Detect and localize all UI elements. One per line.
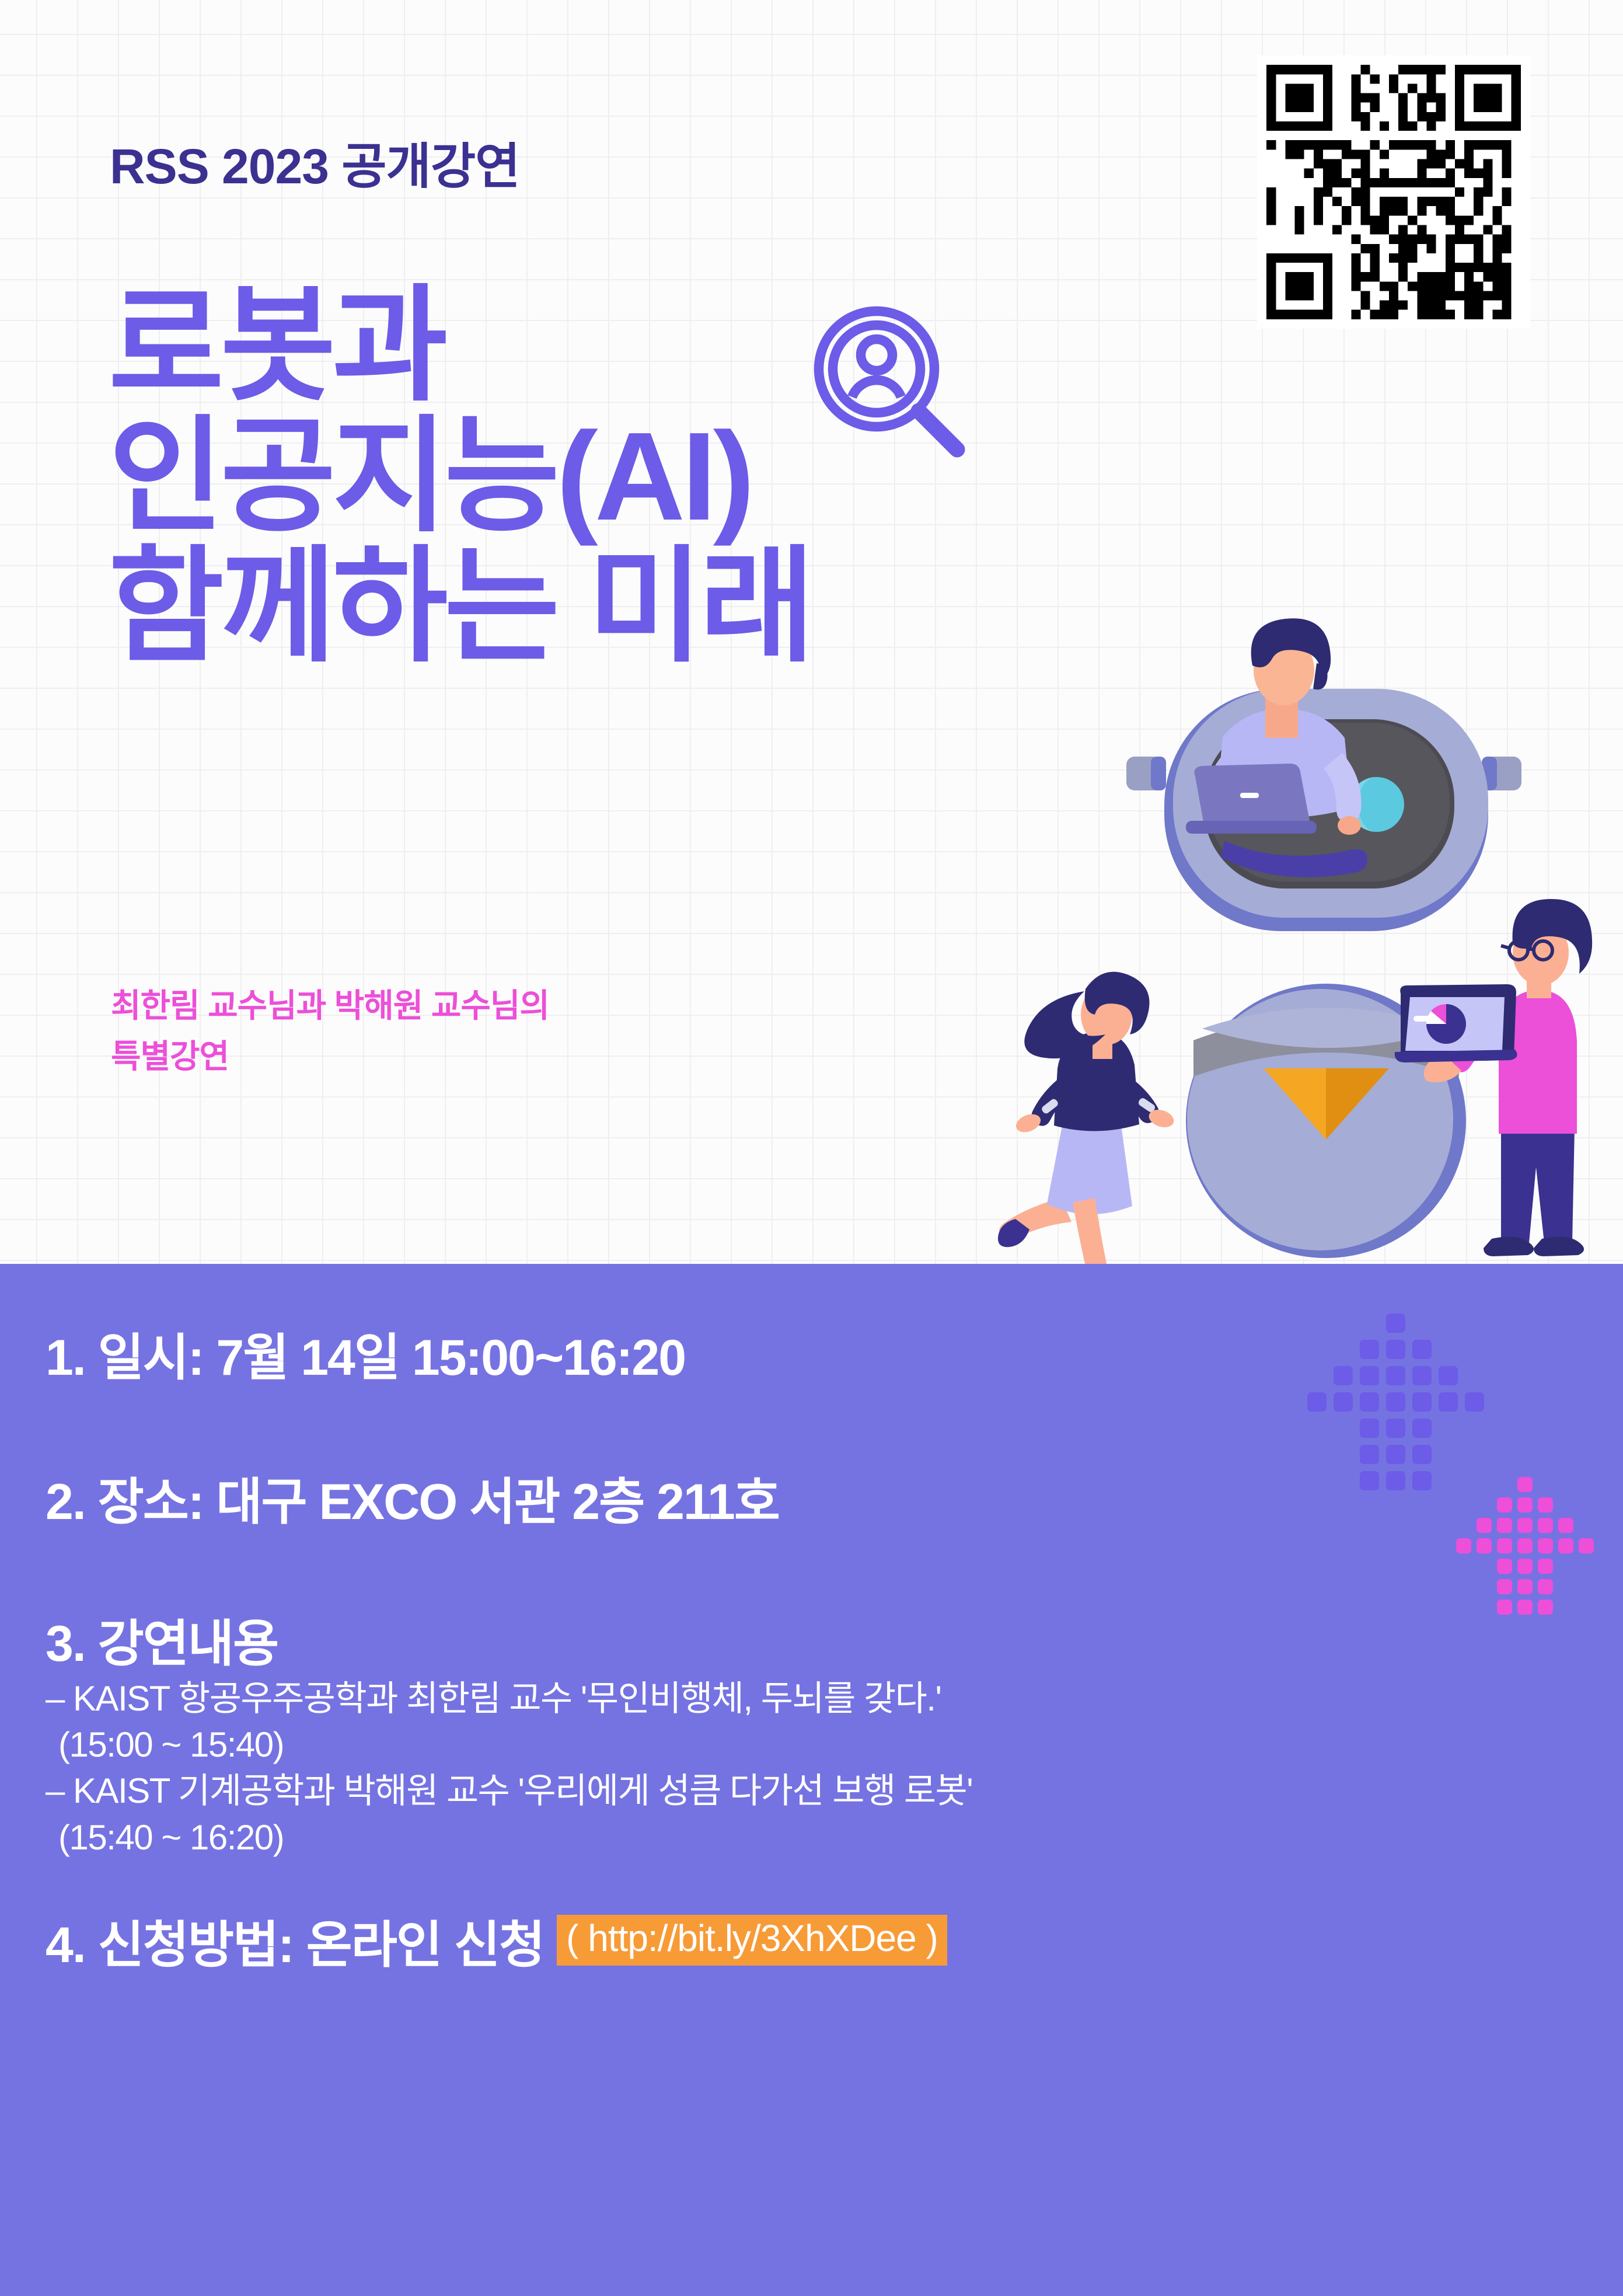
hero-line-2: 인공지능(AI) (109, 411, 1159, 542)
pixel-cross-pink (1456, 1477, 1602, 1623)
pixel-cell (1517, 1579, 1533, 1594)
pixel-cell (1497, 1518, 1512, 1533)
pixel-cell (1465, 1392, 1484, 1412)
pixel-cell (1517, 1538, 1533, 1553)
pixel-cell (1497, 1559, 1512, 1574)
robot-illustration (992, 607, 1623, 1264)
pixel-cell (1517, 1559, 1533, 1574)
pixel-cell (1517, 1518, 1533, 1533)
detail-item-apply: 4. 신청방법: 온라인 신청 ( http://bit.ly/3XhXDee … (46, 1904, 1446, 1977)
pixel-cell (1497, 1497, 1512, 1513)
pixel-cell (1538, 1518, 1553, 1533)
person-search-icon (807, 299, 982, 474)
subtitle-line-1: 최한림 교수님과 박해원 교수님의 (111, 981, 986, 1032)
pixel-cell (1538, 1538, 1553, 1553)
pixel-cell (1538, 1497, 1553, 1513)
pixel-cell (1497, 1538, 1512, 1553)
event-kicker: RSS 2023 공개강연 (110, 127, 519, 198)
apply-url-badge[interactable]: ( http://bit.ly/3XhXDee ) (557, 1915, 947, 1966)
person-search-svg (807, 299, 982, 474)
talk-1-title: – KAIST 항공우주공학과 최한림 교수 '무인비행체, 두뇌를 갖다.' (46, 1675, 1446, 1722)
pixel-cell (1558, 1518, 1573, 1533)
pixel-cell (1517, 1497, 1533, 1513)
pixel-cell (1477, 1538, 1492, 1553)
qr-code-icon[interactable] (1257, 55, 1530, 329)
details-list: 1. 일시: 7월 14일 15:00~16:20 2. 장소: 대구 EXCO… (46, 1316, 1446, 1977)
pixel-cell (1538, 1579, 1553, 1594)
qr-code-svg (1257, 55, 1530, 329)
pixel-cell (1558, 1538, 1573, 1553)
pixel-cell (1477, 1518, 1492, 1533)
talk-2-title: – KAIST 기계공학과 박해원 교수 '우리에게 성큼 다가선 보행 로봇' (46, 1768, 1446, 1814)
poster-root: RSS 2023 공개강연 (0, 0, 1623, 2296)
detail-item-program-title: 3. 강연내용 (46, 1602, 1446, 1675)
pixel-cell (1579, 1538, 1594, 1553)
hero-line-1: 로봇과 (109, 280, 1159, 411)
robot-illustration-svg (992, 607, 1623, 1264)
pixel-cell (1497, 1579, 1512, 1594)
detail-item-venue: 2. 장소: 대구 EXCO 서관 2층 211호 (46, 1461, 1446, 1534)
pixel-cell (1538, 1600, 1553, 1615)
subtitle: 최한림 교수님과 박해원 교수님의 특별강연 (111, 981, 986, 1082)
talk-2-time: (15:40 ~ 16:20) (46, 1814, 1446, 1861)
subtitle-line-2: 특별강연 (111, 1032, 986, 1082)
apply-label: 4. 신청방법: 온라인 신청 (46, 1904, 544, 1977)
pixel-cell (1456, 1538, 1471, 1553)
pixel-cell (1497, 1600, 1512, 1615)
talk-1-time: (15:00 ~ 15:40) (46, 1722, 1446, 1768)
detail-item-date: 1. 일시: 7월 14일 15:00~16:20 (46, 1316, 1446, 1389)
pixel-cell (1517, 1600, 1533, 1615)
pixel-cell (1538, 1559, 1553, 1574)
pixel-cell (1517, 1477, 1533, 1492)
